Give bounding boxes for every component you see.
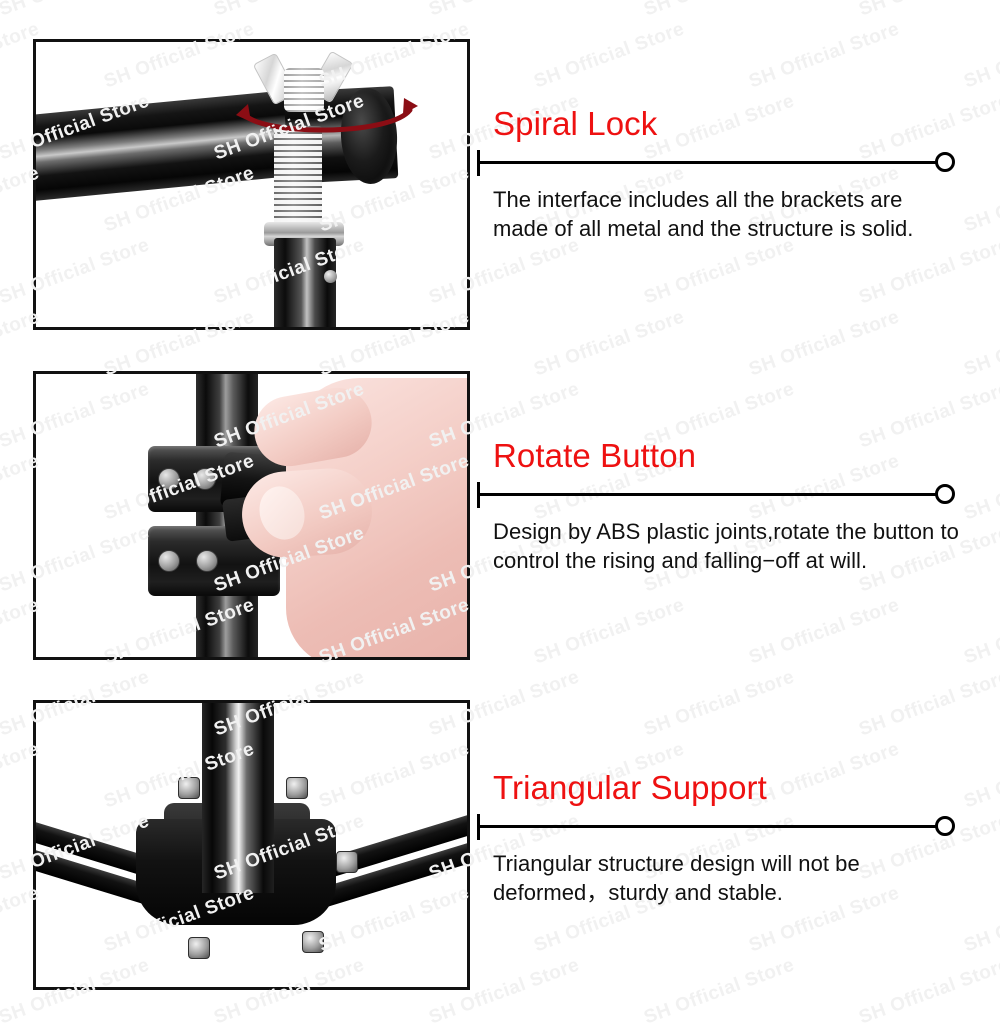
divider-line <box>477 825 945 828</box>
base-screw-shape <box>336 851 358 873</box>
watermark-text: SH Official Store <box>101 1026 257 1033</box>
feature-section-rotate-button: Rotate Button Design by ABS plastic join… <box>0 331 1000 676</box>
feature-text-triangular-support: Triangular Support Triangular structure … <box>477 768 977 907</box>
feature-description: The interface includes all the brackets … <box>493 185 963 243</box>
product-photo-triangular-support <box>36 703 467 988</box>
feature-description: Design by ABS plastic joints,rotate the … <box>493 517 963 575</box>
feature-title: Rotate Button <box>493 436 977 476</box>
product-photo-frame-triangular-support <box>33 700 470 990</box>
feature-section-spiral-lock: Spiral Lock The interface includes all t… <box>0 0 1000 345</box>
watermark-text: SH Official Store <box>316 1026 472 1033</box>
feature-description: Triangular structure design will not be … <box>493 849 963 907</box>
product-photo-frame-rotate-button <box>33 371 470 660</box>
base-screw-shape <box>178 777 200 799</box>
feature-title: Triangular Support <box>493 768 977 808</box>
watermark-text: SH Official Store <box>531 1026 687 1033</box>
feature-divider <box>477 150 977 176</box>
base-screw-shape <box>286 777 308 799</box>
clamp-bolt-shape <box>194 468 216 490</box>
screw-head-shape <box>324 270 337 283</box>
feature-section-triangular-support: Triangular Support Triangular structure … <box>0 660 1000 1005</box>
base-screw-shape <box>188 937 210 959</box>
watermark-text: SH Official Store <box>961 1026 1000 1033</box>
feature-divider <box>477 814 977 840</box>
feature-text-rotate-button: Rotate Button Design by ABS plastic join… <box>477 436 977 575</box>
divider-endpoint-circle <box>935 816 955 836</box>
divider-endpoint-circle <box>935 484 955 504</box>
product-photo-rotate-button <box>36 374 467 659</box>
divider-endpoint-circle <box>935 152 955 172</box>
lower-pole-shape <box>274 238 336 327</box>
divider-line <box>477 493 945 496</box>
watermark-text: SH Official Store <box>746 1026 902 1033</box>
feature-divider <box>477 482 977 508</box>
rotation-arrow-icon <box>232 92 422 142</box>
clamp-bolt-shape <box>158 468 180 490</box>
product-photo-spiral-lock <box>36 42 467 327</box>
watermark-text: SH Official Store <box>0 1026 43 1033</box>
feature-title: Spiral Lock <box>493 104 977 144</box>
divider-line <box>477 161 945 164</box>
feature-text-spiral-lock: Spiral Lock The interface includes all t… <box>477 104 977 243</box>
base-screw-shape <box>302 931 324 953</box>
center-pole-shape <box>202 703 274 893</box>
clamp-bolt-shape <box>158 550 180 572</box>
product-photo-frame-spiral-lock <box>33 39 470 330</box>
clamp-bolt-shape <box>196 550 218 572</box>
